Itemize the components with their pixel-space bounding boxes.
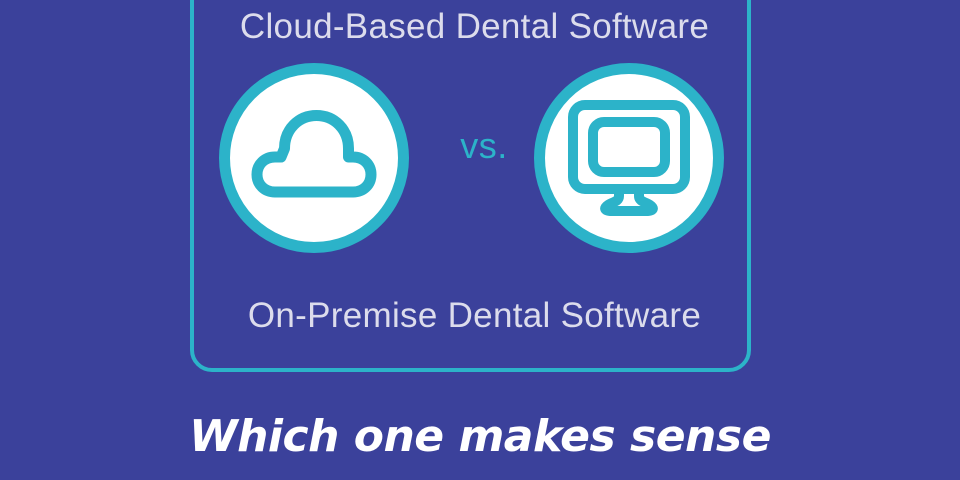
comparison-card: Cloud-Based Dental Software vs.	[190, 0, 751, 372]
infographic-canvas: Cloud-Based Dental Software vs.	[0, 0, 960, 480]
cloud-icon-badge	[219, 63, 409, 253]
icon-comparison-row: vs.	[194, 63, 755, 263]
onpremise-software-heading: On-Premise Dental Software	[194, 296, 755, 336]
cloud-icon	[250, 105, 378, 211]
tagline-text: Which one makes sense	[0, 411, 960, 462]
monitor-icon-badge	[534, 63, 724, 253]
desktop-monitor-icon	[566, 98, 692, 218]
cloud-software-heading: Cloud-Based Dental Software	[194, 7, 755, 47]
